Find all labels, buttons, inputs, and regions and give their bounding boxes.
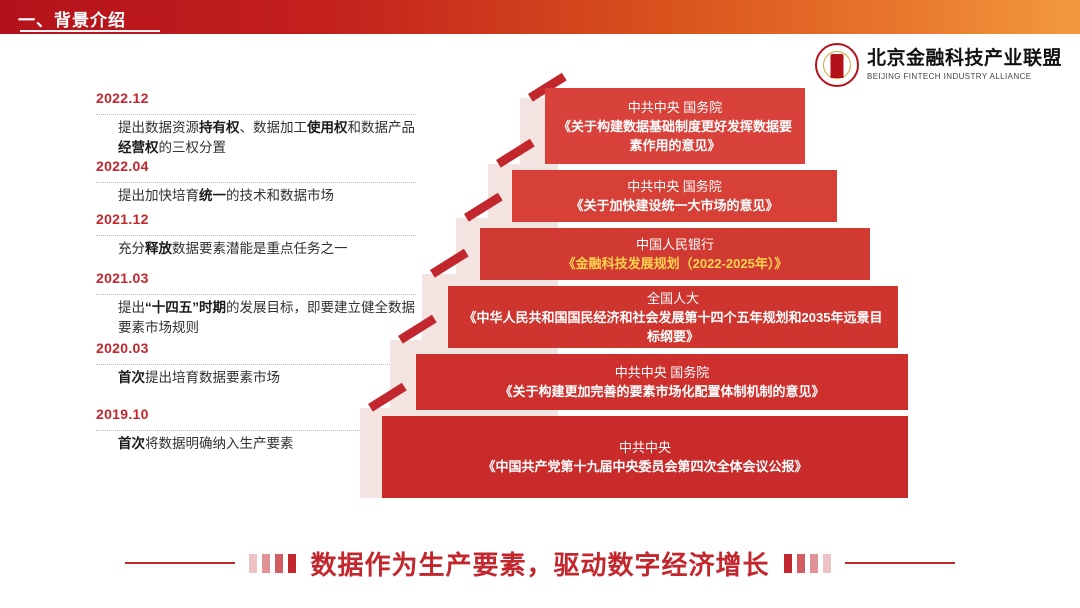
- banner-rule-right: [845, 562, 955, 564]
- timeline-date: 2020.03: [96, 340, 149, 356]
- staircase-diagram: 中共中央 国务院 《关于构建数据基础制度更好发挥数据要素作用的意见》 中共中央 …: [360, 78, 860, 498]
- step-issuer: 中共中央: [619, 438, 671, 457]
- timeline-date: 2021.03: [96, 270, 149, 286]
- tick-marks-left: [249, 554, 296, 573]
- step-issuer: 全国人大: [647, 289, 699, 308]
- step-5: 中共中央 国务院 《关于构建更加完善的要素市场化配置体制机制的意见》: [416, 354, 908, 410]
- logo-text-block: 北京金融科技产业联盟 BEIJING FINTECH INDUSTRY ALLI…: [867, 49, 1062, 81]
- title-underline: [20, 30, 160, 32]
- step-issuer: 中共中央 国务院: [628, 98, 723, 117]
- timeline-date: 2022.04: [96, 158, 149, 174]
- summary-banner: 数据作为生产要素，驱动数字经济增长: [0, 542, 1080, 584]
- timeline-date: 2021.12: [96, 211, 149, 227]
- step-6: 中共中央 《中国共产党第十九届中央委员会第四次全体会议公报》: [382, 416, 908, 498]
- step-document: 《关于加快建设统一大市场的意见》: [570, 196, 778, 215]
- step-issuer: 中国人民银行: [636, 235, 714, 254]
- step-3: 中国人民银行 《金融科技发展规划（2022-2025年）》: [480, 228, 870, 280]
- banner-rule-left: [125, 562, 235, 564]
- step-2: 中共中央 国务院 《关于加快建设统一大市场的意见》: [512, 170, 837, 222]
- timeline-list: 2022.12 提出数据资源持有权、数据加工使用权和数据产品经营权的三权分置 2…: [0, 78, 420, 498]
- logo-name-cn: 北京金融科技产业联盟: [867, 49, 1062, 70]
- timeline-date: 2022.12: [96, 90, 149, 106]
- step-document: 《金融科技发展规划（2022-2025年）》: [563, 254, 788, 273]
- step-document: 《关于构建数据基础制度更好发挥数据要素作用的意见》: [555, 117, 795, 155]
- page-title: 一、背景介绍: [18, 6, 126, 31]
- step-document: 《中国共产党第十九届中央委员会第四次全体会议公报》: [482, 457, 807, 476]
- tick-marks-right: [784, 554, 831, 573]
- step-4: 全国人大 《中华人民共和国国民经济和社会发展第十四个五年规划和2035年远景目标…: [448, 286, 898, 348]
- banner-text: 数据作为生产要素，驱动数字经济增长: [310, 545, 769, 582]
- slide-header-bar: 一、背景介绍: [0, 0, 1080, 34]
- step-issuer: 中共中央 国务院: [615, 363, 710, 382]
- step-document: 《关于构建更加完善的要素市场化配置体制机制的意见》: [499, 382, 824, 401]
- step-issuer: 中共中央 国务院: [627, 177, 722, 196]
- step-document: 《中华人民共和国国民经济和社会发展第十四个五年规划和2035年远景目标纲要》: [458, 308, 888, 346]
- timeline-date: 2019.10: [96, 406, 149, 422]
- logo-name-en: BEIJING FINTECH INDUSTRY ALLIANCE: [867, 72, 1062, 81]
- step-1: 中共中央 国务院 《关于构建数据基础制度更好发挥数据要素作用的意见》: [545, 88, 805, 164]
